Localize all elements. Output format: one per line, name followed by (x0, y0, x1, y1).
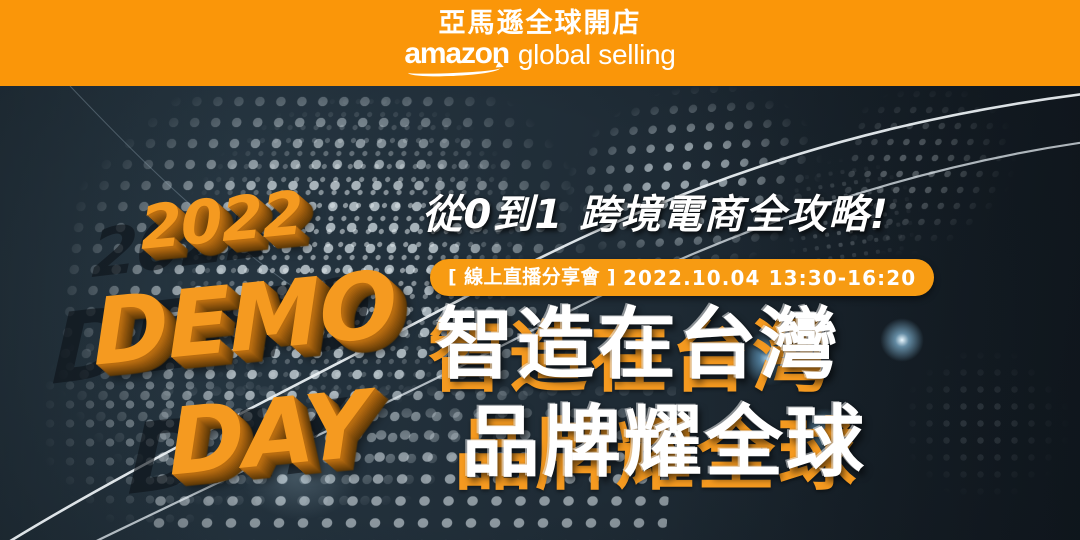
amazon-global-selling-logo: 亞馬遜全球開店 amazon global selling (404, 10, 675, 76)
event-format-label: [ 線上直播分享會 ] (448, 268, 616, 287)
global-selling-label: global selling (518, 41, 676, 76)
slogan-line-2: 品牌耀全球 品牌耀全球 (462, 404, 867, 482)
day-label: DAY (166, 370, 370, 496)
brand-chinese-label: 亞馬遜全球開店 (404, 10, 675, 37)
amazon-smile-icon (408, 63, 500, 77)
header-bar: 亞馬遜全球開店 amazon global selling (0, 0, 1080, 86)
slogan-line-1-text: 智造在台灣 (436, 300, 841, 390)
slogan-line-2-text: 品牌耀全球 (462, 398, 867, 488)
headline-text: 從0到1 跨境電商全攻略! (422, 182, 889, 240)
slogan-line-1: 智造在台灣 智造在台灣 (436, 306, 841, 384)
promo-banner: 2022 DEMO DAY 2022 DEMO DAY 從0到1 跨境電商全攻略… (0, 0, 1080, 540)
year-label: 2022 (139, 178, 304, 264)
amazon-wordmark: amazon (404, 39, 509, 76)
event-datetime-label: 2022.10.04 13:30-16:20 (623, 268, 916, 288)
event-datetime-badge: [ 線上直播分享會 ] 2022.10.04 13:30-16:20 (430, 259, 934, 296)
brand-latin-row: amazon global selling (404, 39, 675, 76)
